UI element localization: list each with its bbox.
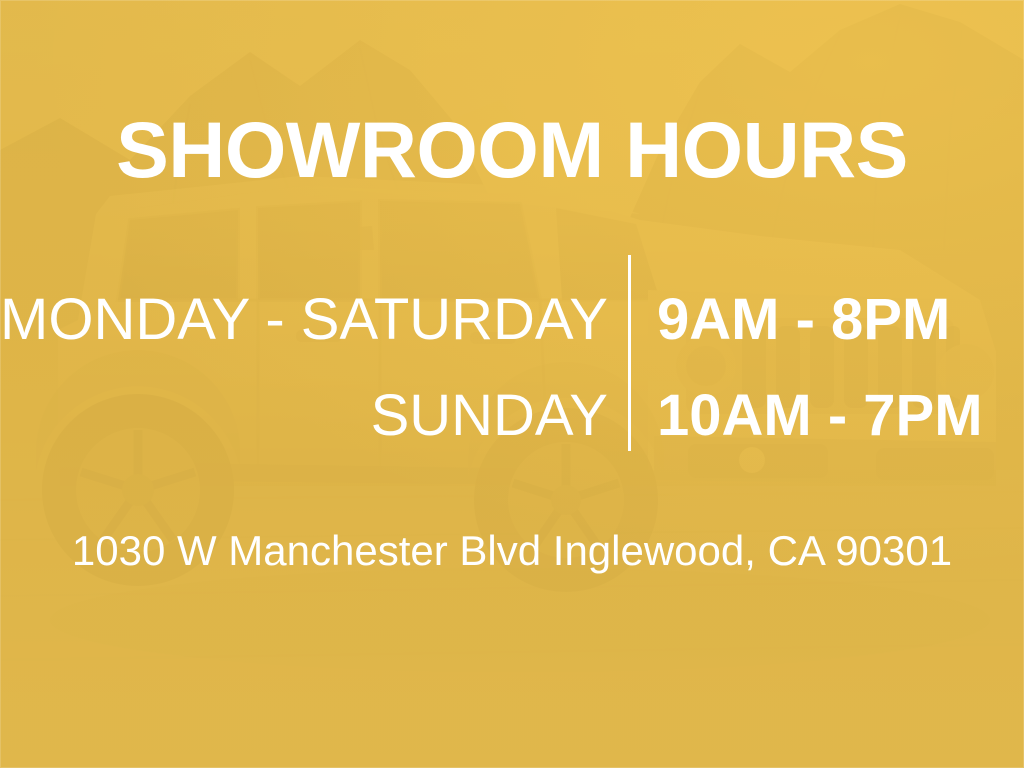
hours-time-value: 9AM - 8PM bbox=[608, 272, 1024, 368]
hours-days-label: MONDAY - SATURDAY bbox=[0, 272, 608, 368]
hours-row: MONDAY - SATURDAY 9AM - 8PM bbox=[0, 272, 1024, 368]
hours-row: SUNDAY 10AM - 7PM bbox=[0, 368, 1024, 464]
hours-time-value: 10AM - 7PM bbox=[608, 368, 1024, 464]
showroom-hours-poster: SHOWROOM HOURS MONDAY - SATURDAY 9AM - 8… bbox=[0, 0, 1024, 768]
hours-table: MONDAY - SATURDAY 9AM - 8PM SUNDAY 10AM … bbox=[0, 272, 1024, 464]
poster-content: SHOWROOM HOURS MONDAY - SATURDAY 9AM - 8… bbox=[0, 0, 1024, 768]
dealership-address: 1030 W Manchester Blvd Inglewood, CA 903… bbox=[0, 528, 1024, 574]
page-title: SHOWROOM HOURS bbox=[0, 110, 1024, 189]
hours-days-label: SUNDAY bbox=[0, 368, 608, 464]
